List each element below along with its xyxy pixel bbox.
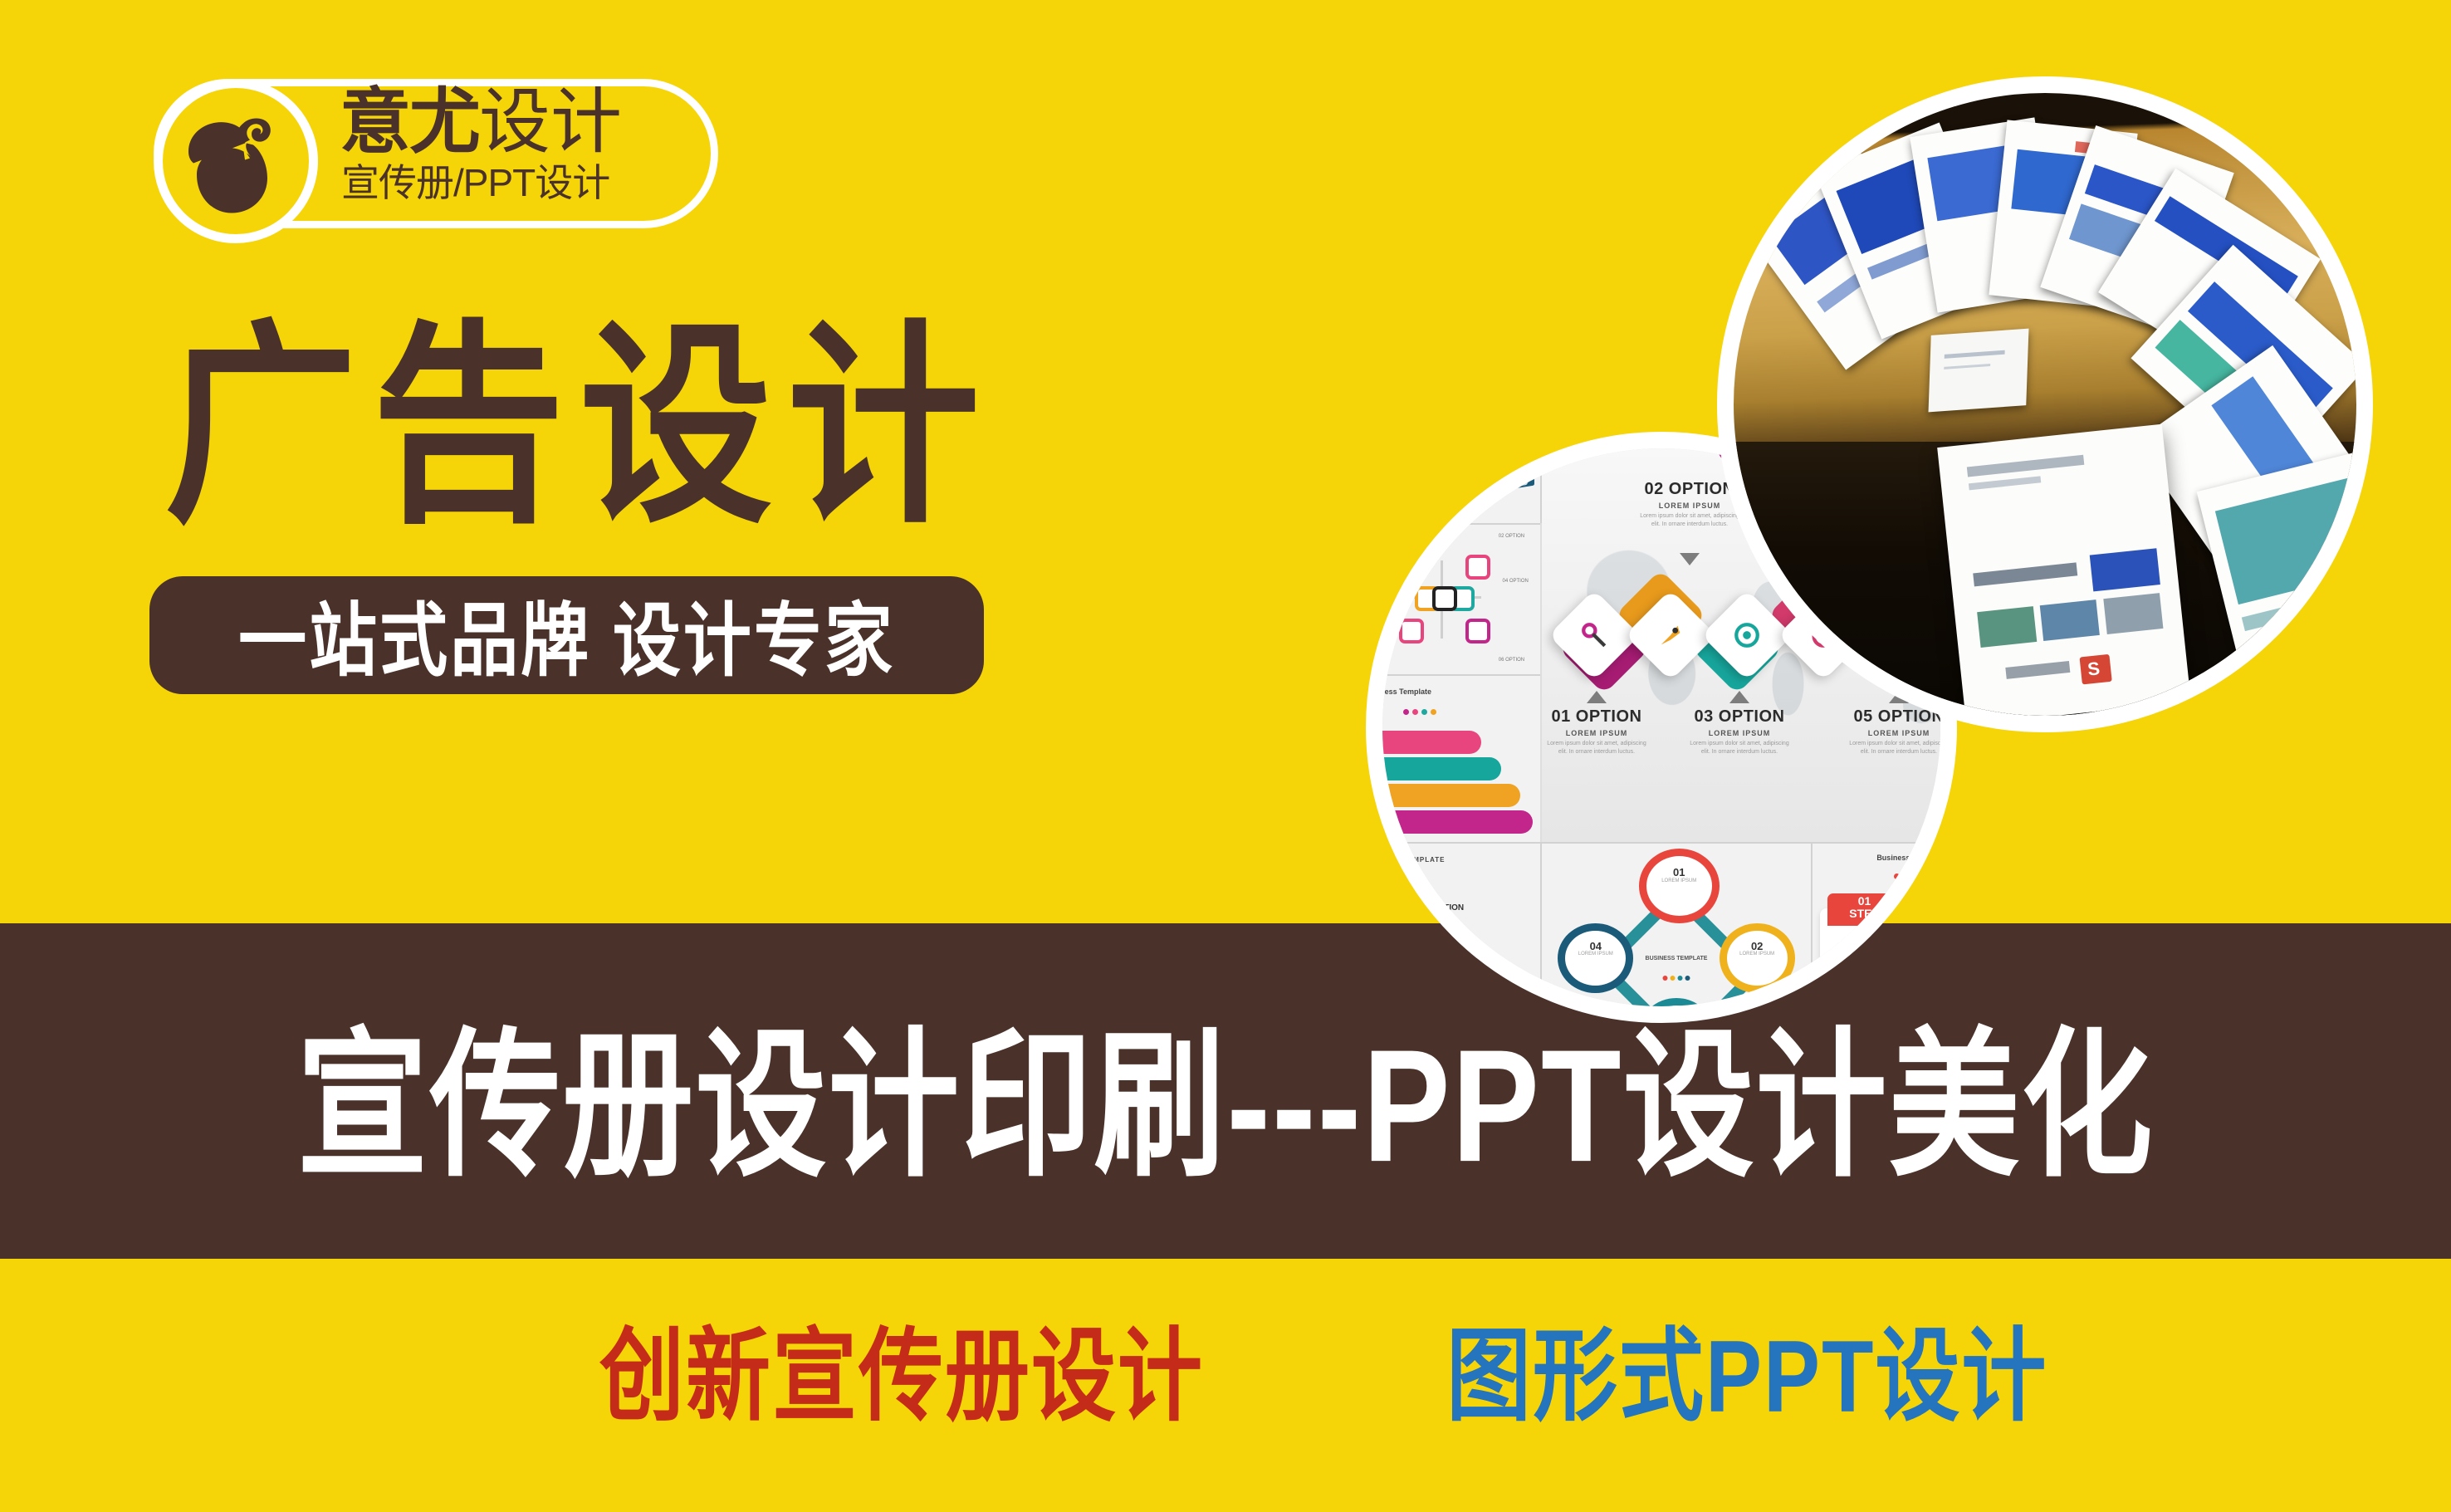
node-number: 04 (1565, 940, 1626, 952)
node-card-icon (1465, 555, 1490, 580)
palette-dot (1912, 873, 1918, 879)
option-lorem: LOREM IPSUM (1547, 729, 1646, 737)
rocket-icon (1656, 621, 1685, 649)
logo-title-thin: 设计 (479, 82, 622, 162)
cycle-node: 01 LOREM IPSUM (1639, 849, 1720, 923)
palette-dot (1408, 878, 1414, 884)
logo-title-bold: 意尤 (340, 82, 479, 162)
banner-canvas: BUSINESS TEMPLATE 02 OPTION LOREM IPSUM … (0, 0, 2451, 1512)
slogan-pill: 一站式品牌 设计专家 (149, 576, 984, 694)
node-number: 01 (1646, 866, 1712, 878)
xchart-label: 02 OPTION (1499, 534, 1524, 539)
tagline-right: 图形式PPT设计 (1446, 1294, 2047, 1441)
service-band: 宣传册设计印刷---PPT设计美化 (0, 923, 2451, 1259)
pointer-down-icon (1438, 938, 1451, 947)
palette-dot (1903, 873, 1909, 879)
option-number: 02 OPTION (1640, 480, 1739, 499)
option-number: 01 OPTION (1547, 707, 1646, 727)
bird-seed-mark-icon (182, 105, 290, 218)
option-body: Lorem ipsum dolor sit amet, adipiscing e… (1849, 740, 1940, 756)
page-title: 广告设计 (164, 309, 995, 546)
tagline-row: 创新宣传册设计 图形式PPT设计 (0, 1259, 2451, 1512)
step-num: 01 (1858, 894, 1871, 908)
palette-dot (1382, 878, 1387, 884)
option-lorem: LOREM IPSUM (1849, 729, 1940, 737)
option-lorem: LOREM IPSUM (1640, 502, 1739, 510)
bl-title: BUSINESS TEMPLATE (1382, 856, 1446, 864)
thumb-banner-rows (1382, 448, 1540, 523)
target-icon (1517, 474, 1528, 487)
hero-option: 01 OPTION LOREM IPSUM Lorem ipsum dolor … (1547, 707, 1646, 756)
node-number: 02 (1727, 940, 1788, 952)
option-body: Lorem ipsum dolor sit amet, adipiscing e… (1690, 740, 1789, 756)
pointer-up-icon (1587, 691, 1607, 703)
logo-title: 意尤设计 (340, 83, 622, 161)
node-center (1432, 586, 1457, 611)
step-card: 02STEP LOREM IPSUM Lorem ipsum dolor sit… (1912, 908, 1940, 1006)
hero-option: 02 OPTION LOREM IPSUM Lorem ipsum dolor … (1640, 480, 1739, 529)
palette-dot (1390, 878, 1396, 884)
bl-dots (1382, 878, 1414, 884)
pyramid-title: Business Template (1382, 687, 1431, 696)
palette-dot (1671, 976, 1676, 981)
step-label: LOREM IPSUM (1820, 950, 1908, 956)
node-info-icon (1399, 555, 1424, 580)
steps-title: Business Template (1876, 854, 1940, 862)
cycle-node: 04 LOREM IPSUM (1558, 923, 1633, 993)
step-number: 01STEP (1820, 895, 1908, 920)
tagline-left: 创新宣传册设计 (599, 1294, 1204, 1441)
step-body: Lorem ipsum dolor sit amet adipiscing. (1921, 966, 1940, 977)
step-label: LOREM IPSUM (1912, 950, 1940, 956)
step-number: 02STEP (1912, 895, 1940, 920)
palette-dot (1412, 709, 1418, 715)
brochure-photo-circle: S (1717, 76, 2373, 732)
pyramid-layer: 03 (1382, 784, 1520, 807)
palette-dot (1663, 976, 1668, 981)
thumb-bottom-left: BUSINESS TEMPLATE 04 OPTION (1382, 844, 1540, 1006)
node-label: LOREM IPSUM (1565, 952, 1626, 957)
slogan-text: 一站式品牌 设计专家 (238, 575, 895, 695)
steps-dots (1894, 873, 1927, 879)
xchart-label: 01 OPTION (1382, 534, 1386, 539)
pyramid-layer: 01 (1382, 731, 1481, 754)
option-lorem: LOREM IPSUM (1690, 729, 1789, 737)
logo-mark-circle (154, 79, 318, 243)
pyramid-dots (1403, 709, 1436, 715)
option-body: Lorem ipsum dolor sit amet, adipiscing e… (1547, 740, 1646, 756)
xchart-label: 04 OPTION (1503, 579, 1529, 584)
step-card: 01STEP LOREM IPSUM Lorem ipsum dolor sit… (1820, 908, 1908, 1006)
thumb-x-chart: 01 OPTION 02 OPTION 05 OPTION 06 OPTION … (1382, 525, 1540, 674)
thumb-pyramid: Business Template 01 02 03 04 (1382, 676, 1540, 842)
node-label: LOREM IPSUM (1646, 878, 1712, 883)
pyramid-layer: 02 (1382, 757, 1501, 780)
key-icon (1580, 621, 1608, 649)
service-band-text: 宣传册设计印刷---PPT设计美化 (0, 887, 2451, 1296)
logo-subtitle: 宣传册/PPT设计 (341, 161, 609, 204)
cycle-dots (1663, 976, 1690, 981)
node-user-icon (1399, 619, 1424, 643)
palette-dot (1403, 709, 1409, 715)
palette-dot (1894, 873, 1900, 879)
business-card-holder (1929, 329, 2029, 413)
home-icon (1517, 448, 1528, 461)
palette-dot (1678, 976, 1683, 981)
brand-logo[interactable]: 意尤设计 宣传册/PPT设计 (154, 79, 718, 228)
node-search-icon (1465, 619, 1490, 643)
cycle-title: BUSINESS TEMPLATE (1646, 956, 1708, 962)
palette-dot (1685, 976, 1690, 981)
photo-circle-inner: S (1734, 93, 2356, 716)
logo-text-block: 意尤设计 宣传册/PPT设计 (340, 90, 717, 224)
step-word: STEP (1849, 907, 1880, 920)
option-body: Lorem ipsum dolor sit amet, adipiscing e… (1640, 512, 1739, 529)
palette-dot (1399, 878, 1405, 884)
xchart-label: 05 OPTION (1382, 658, 1386, 663)
pointer-down-icon (1680, 553, 1700, 565)
front-brochure: S (1937, 424, 2191, 716)
thumb-cycle: 01 LOREM IPSUM 02 LOREM IPSUM 03 LOREM I… (1542, 844, 1811, 1006)
brochure-logo-letter: S (2087, 659, 2101, 678)
bl-option: 04 OPTION (1421, 903, 1464, 913)
palette-dot (1921, 873, 1927, 879)
pyramid-layer: 04 (1382, 810, 1533, 834)
step-body: Lorem ipsum dolor sit amet adipiscing. (1829, 966, 1900, 977)
palette-dot (1421, 709, 1427, 715)
xchart-label: 06 OPTION (1499, 658, 1524, 663)
cycle-node: 02 LOREM IPSUM (1720, 923, 1795, 993)
palette-dot (1431, 709, 1436, 715)
node-label: LOREM IPSUM (1727, 952, 1788, 957)
thumb-steps: Business Template 01STEP LOREM IPSUM Lor… (1813, 844, 1940, 1006)
